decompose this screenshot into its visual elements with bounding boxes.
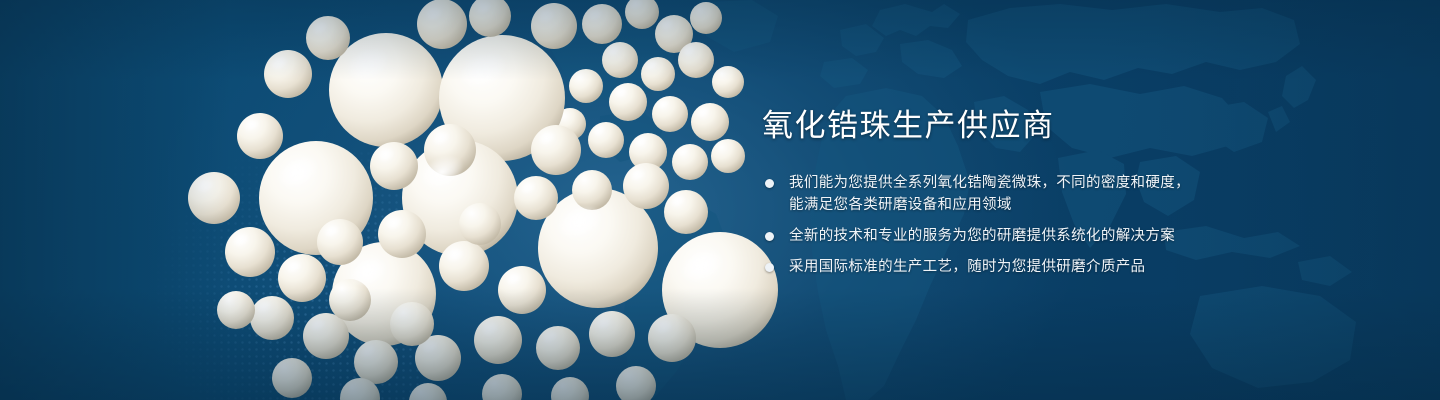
page-title: 氧化锆珠生产供应商 — [762, 106, 1362, 146]
feature-list: 我们能为您提供全系列氧化锆陶瓷微珠，不同的密度和硬度， 能满足您各类研磨设备和应… — [762, 172, 1362, 278]
bullet-dot-icon — [765, 179, 774, 188]
halftone-dot-texture — [120, 150, 420, 400]
bullet-dot-icon — [765, 232, 774, 241]
list-item: 我们能为您提供全系列氧化锆陶瓷微珠，不同的密度和硬度， 能满足您各类研磨设备和应… — [762, 172, 1362, 216]
feature-text: 我们能为您提供全系列氧化锆陶瓷微珠，不同的密度和硬度， 能满足您各类研磨设备和应… — [789, 172, 1362, 216]
feature-text: 全新的技术和专业的服务为您的研磨提供系统化的解决方案 — [789, 225, 1362, 247]
feature-line-1: 全新的技术和专业的服务为您的研磨提供系统化的解决方案 — [789, 228, 1175, 244]
feature-line-1: 我们能为您提供全系列氧化锆陶瓷微珠，不同的密度和硬度， — [789, 175, 1190, 191]
list-item: 全新的技术和专业的服务为您的研磨提供系统化的解决方案 — [762, 225, 1362, 247]
list-item: 采用国际标准的生产工艺，随时为您提供研磨介质产品 — [762, 256, 1362, 278]
bullet-dot-icon — [765, 263, 774, 272]
feature-line-2: 能满足您各类研磨设备和应用领域 — [789, 194, 1362, 216]
zirconia-beads-image — [150, 0, 740, 400]
hero-banner: 氧化锆珠生产供应商 我们能为您提供全系列氧化锆陶瓷微珠，不同的密度和硬度， 能满… — [0, 0, 1440, 400]
banner-copy: 氧化锆珠生产供应商 我们能为您提供全系列氧化锆陶瓷微珠，不同的密度和硬度， 能满… — [762, 106, 1362, 278]
feature-line-1: 采用国际标准的生产工艺，随时为您提供研磨介质产品 — [789, 259, 1145, 275]
feature-text: 采用国际标准的生产工艺，随时为您提供研磨介质产品 — [789, 256, 1362, 278]
